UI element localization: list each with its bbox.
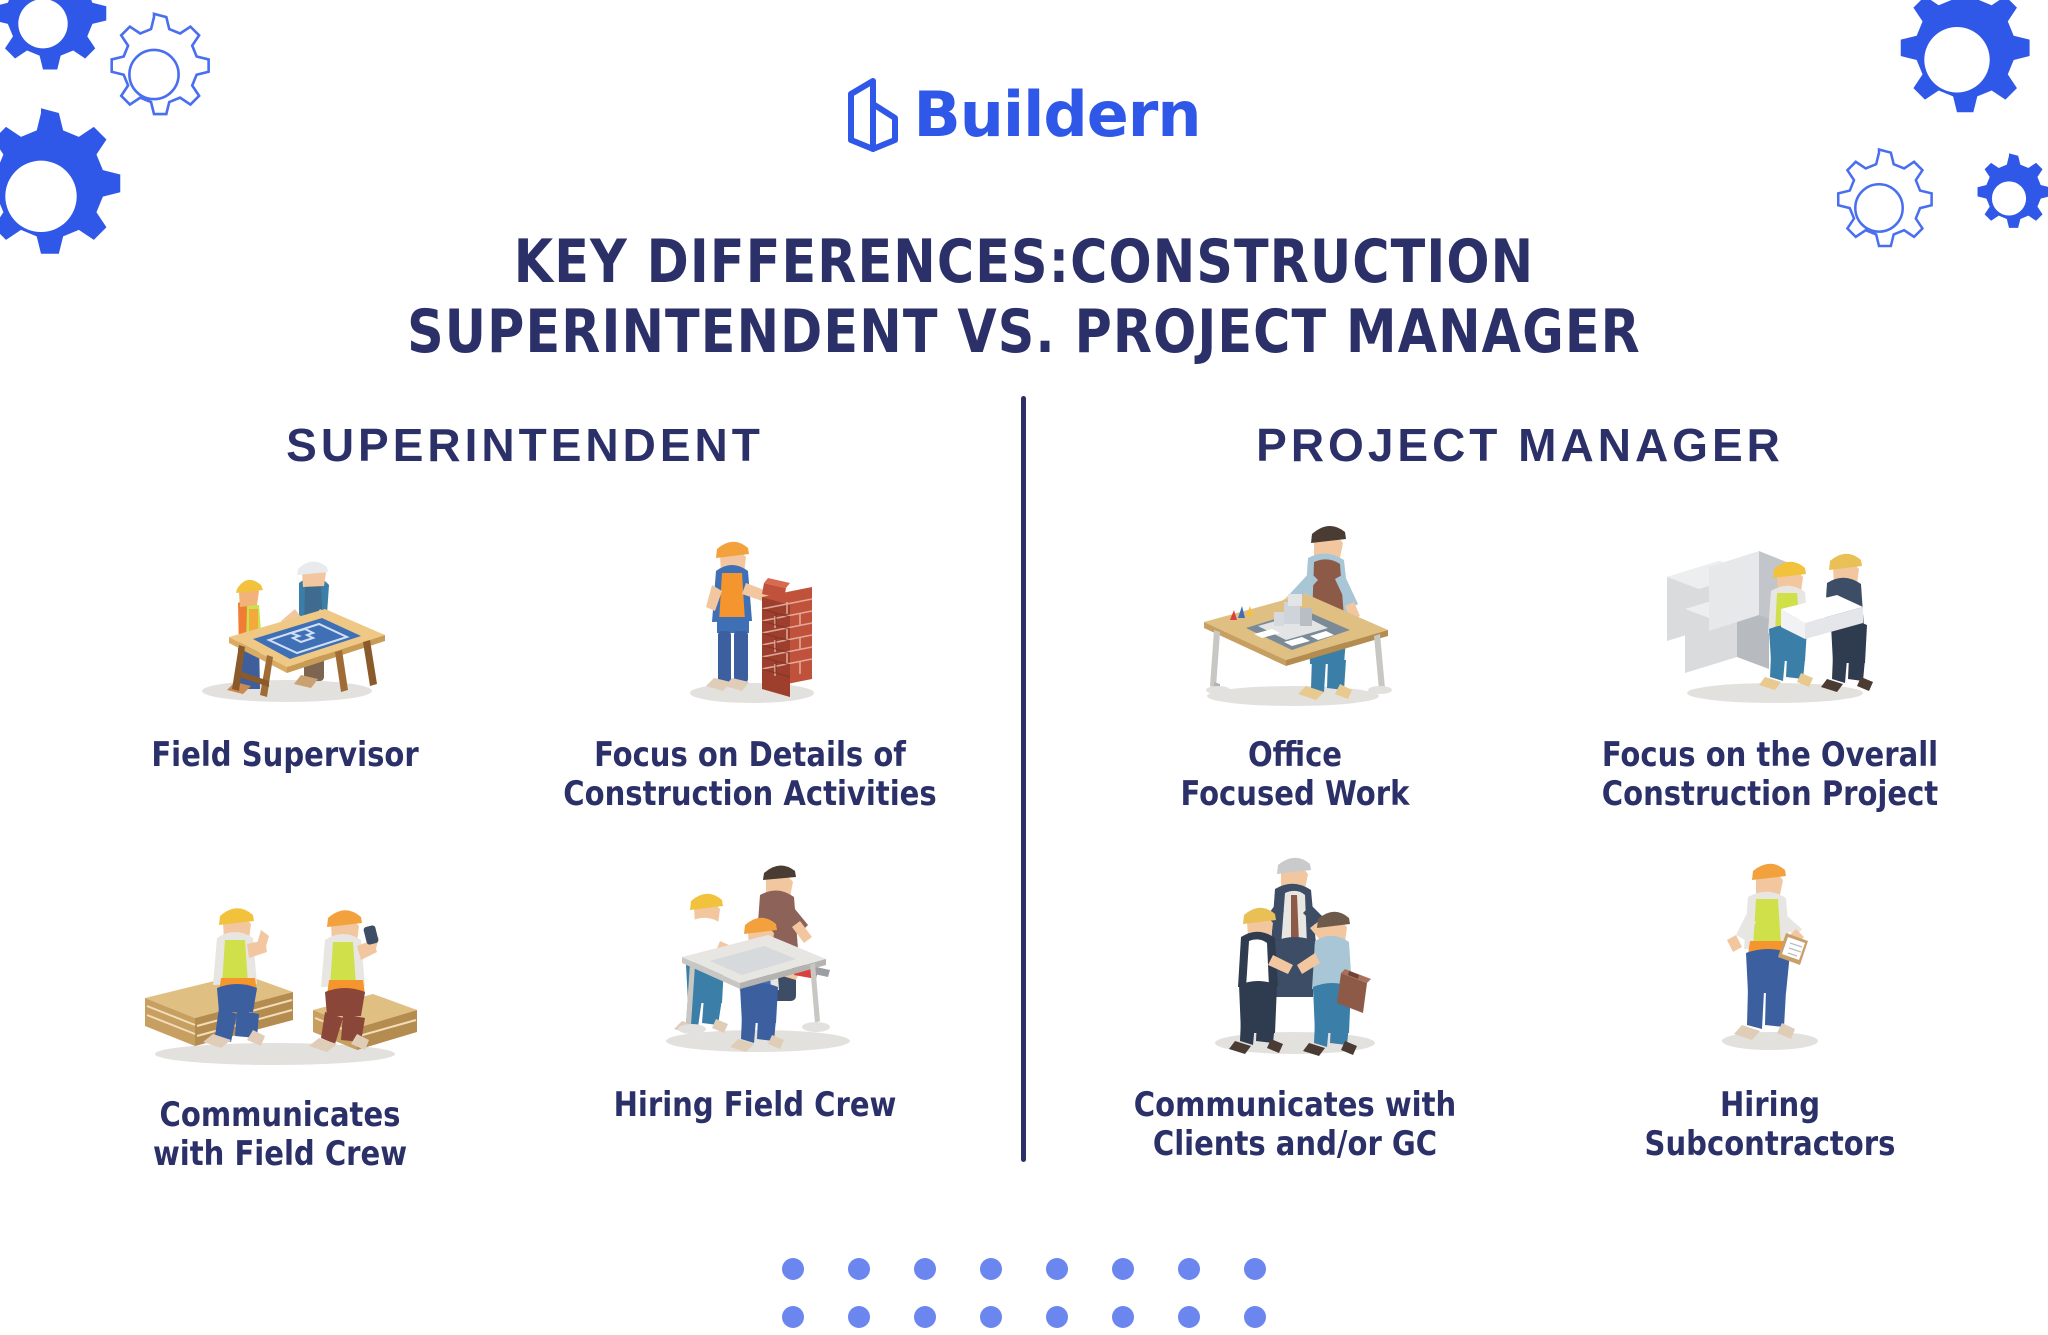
caption-line: Communicates with bbox=[1072, 1086, 1519, 1125]
buildern-building-logo-icon bbox=[847, 78, 899, 152]
dot bbox=[1244, 1306, 1266, 1328]
dot bbox=[1112, 1258, 1134, 1280]
item-hiring-subcontractors: Hiring Subcontractors bbox=[1530, 850, 2010, 1165]
business-people-meeting-illustration-icon bbox=[1060, 850, 1530, 1060]
item-caption: Communicates with Clients and/or GC bbox=[1072, 1086, 1519, 1165]
two-workers-sitting-on-lumber-illustration-icon bbox=[40, 860, 520, 1070]
caption-line: Construction Project bbox=[1542, 775, 1998, 814]
item-caption: Focus on Details of Construction Activit… bbox=[522, 736, 978, 815]
item-caption: Communicates with Field Crew bbox=[52, 1096, 508, 1175]
brand-logo[interactable]: Buildern bbox=[0, 78, 2048, 152]
dot bbox=[980, 1306, 1002, 1328]
caption-line: Focus on Details of bbox=[522, 736, 978, 775]
item-hiring-field-crew: Hiring Field Crew bbox=[520, 850, 990, 1125]
caption-line: Focused Work bbox=[1072, 775, 1519, 814]
architect-at-desk-model-illustration-icon bbox=[1060, 500, 1530, 710]
caption-line: Field Supervisor bbox=[62, 736, 509, 775]
page-title-line-2: SUPERINTENDENT VS. PROJECT MANAGER bbox=[61, 298, 1986, 368]
page-title-line-1: KEY DIFFERENCES:CONSTRUCTION bbox=[61, 228, 1986, 298]
dot bbox=[848, 1258, 870, 1280]
item-focus-on-overall-project: Focus on the Overall Construction Projec… bbox=[1530, 500, 2010, 815]
dot-decoration bbox=[0, 1258, 2048, 1328]
dot bbox=[914, 1258, 936, 1280]
dot bbox=[980, 1258, 1002, 1280]
dot bbox=[1178, 1306, 1200, 1328]
bricklayer-building-wall-illustration-icon bbox=[510, 500, 990, 710]
crew-around-worktable-illustration-icon bbox=[520, 850, 990, 1060]
dot bbox=[1244, 1258, 1266, 1280]
dot-row bbox=[782, 1258, 1266, 1280]
caption-line: with Field Crew bbox=[52, 1135, 508, 1174]
two-people-reviewing-plans-at-wall-illustration-icon bbox=[1530, 500, 2010, 710]
caption-line: Focus on the Overall bbox=[1542, 736, 1998, 775]
item-caption: Hiring Subcontractors bbox=[1542, 1086, 1998, 1165]
two-workers-blueprint-table-illustration-icon bbox=[50, 500, 520, 710]
caption-line: Hiring Field Crew bbox=[532, 1086, 979, 1125]
item-field-supervisor: Field Supervisor bbox=[50, 500, 520, 775]
brand-name: Buildern bbox=[913, 84, 1200, 146]
dot bbox=[1178, 1258, 1200, 1280]
infographic-canvas: Buildern KEY DIFFERENCES:CONSTRUCTION SU… bbox=[0, 0, 2048, 1335]
dot bbox=[914, 1306, 936, 1328]
page-title: KEY DIFFERENCES:CONSTRUCTION SUPERINTEND… bbox=[61, 228, 1986, 367]
worker-with-clipboard-illustration-icon bbox=[1530, 850, 2010, 1060]
item-caption: Focus on the Overall Construction Projec… bbox=[1542, 736, 1998, 815]
item-office-focused-work: Office Focused Work bbox=[1060, 500, 1530, 815]
caption-line: Subcontractors bbox=[1542, 1125, 1998, 1164]
item-communicates-with-clients: Communicates with Clients and/or GC bbox=[1060, 850, 1530, 1165]
item-caption: Office Focused Work bbox=[1072, 736, 1519, 815]
dot bbox=[848, 1306, 870, 1328]
column-divider bbox=[1021, 396, 1026, 1162]
item-focus-on-details: Focus on Details of Construction Activit… bbox=[510, 500, 990, 815]
dot bbox=[1112, 1306, 1134, 1328]
dot bbox=[782, 1258, 804, 1280]
caption-line: Clients and/or GC bbox=[1072, 1125, 1519, 1164]
caption-line: Hiring bbox=[1542, 1086, 1998, 1125]
dot bbox=[1046, 1258, 1068, 1280]
dot-row bbox=[782, 1306, 1266, 1328]
dot bbox=[1046, 1306, 1068, 1328]
item-caption: Field Supervisor bbox=[62, 736, 509, 775]
caption-line: Construction Activities bbox=[522, 775, 978, 814]
caption-line: Communicates bbox=[52, 1096, 508, 1135]
column-heading-superintendent: SUPERINTENDENT bbox=[60, 418, 990, 472]
column-heading-project-manager: PROJECT MANAGER bbox=[1055, 418, 1985, 472]
item-caption: Hiring Field Crew bbox=[532, 1086, 979, 1125]
caption-line: Office bbox=[1072, 736, 1519, 775]
dot bbox=[782, 1306, 804, 1328]
item-communicates-with-field-crew: Communicates with Field Crew bbox=[40, 860, 520, 1175]
